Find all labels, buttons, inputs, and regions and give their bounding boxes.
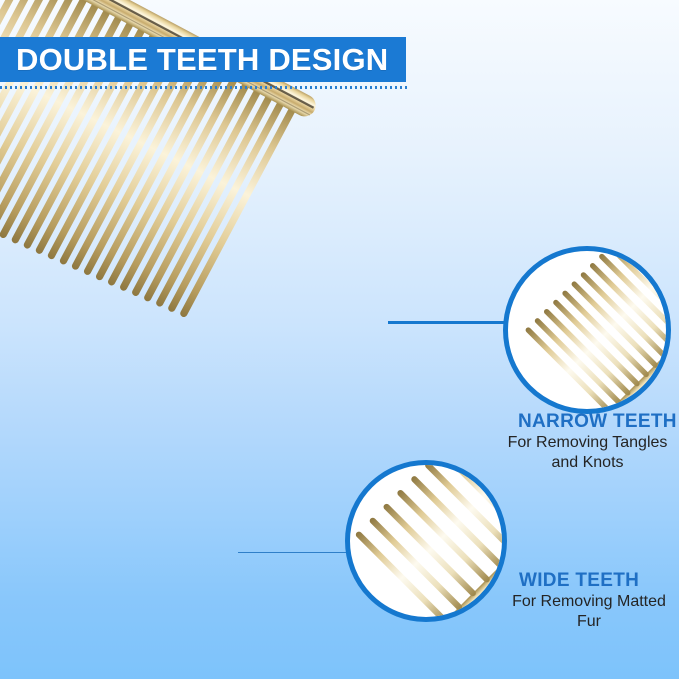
page-title: DOUBLE TEETH DESIGN (0, 42, 388, 78)
callout-description-wide: For Removing Matted Fur (503, 592, 675, 632)
callout-label-narrow: NARROW TEETH (518, 411, 677, 433)
callout-circle-wide (345, 460, 507, 622)
wide-teeth-zoom-image (350, 465, 502, 617)
narrow-teeth-zoom-image (508, 251, 666, 409)
connector-line-narrow (388, 321, 510, 324)
title-banner: DOUBLE TEETH DESIGN (0, 37, 406, 82)
callout-description-narrow: For Removing Tangles and Knots (500, 433, 675, 473)
callout-circle-narrow (503, 246, 671, 414)
infographic-canvas: DOUBLE TEETH DESIGN NARROW TEETH For Rem… (0, 0, 679, 679)
dotted-divider (0, 86, 409, 89)
connector-line-wide (238, 552, 352, 553)
callout-label-wide: WIDE TEETH (519, 570, 639, 592)
